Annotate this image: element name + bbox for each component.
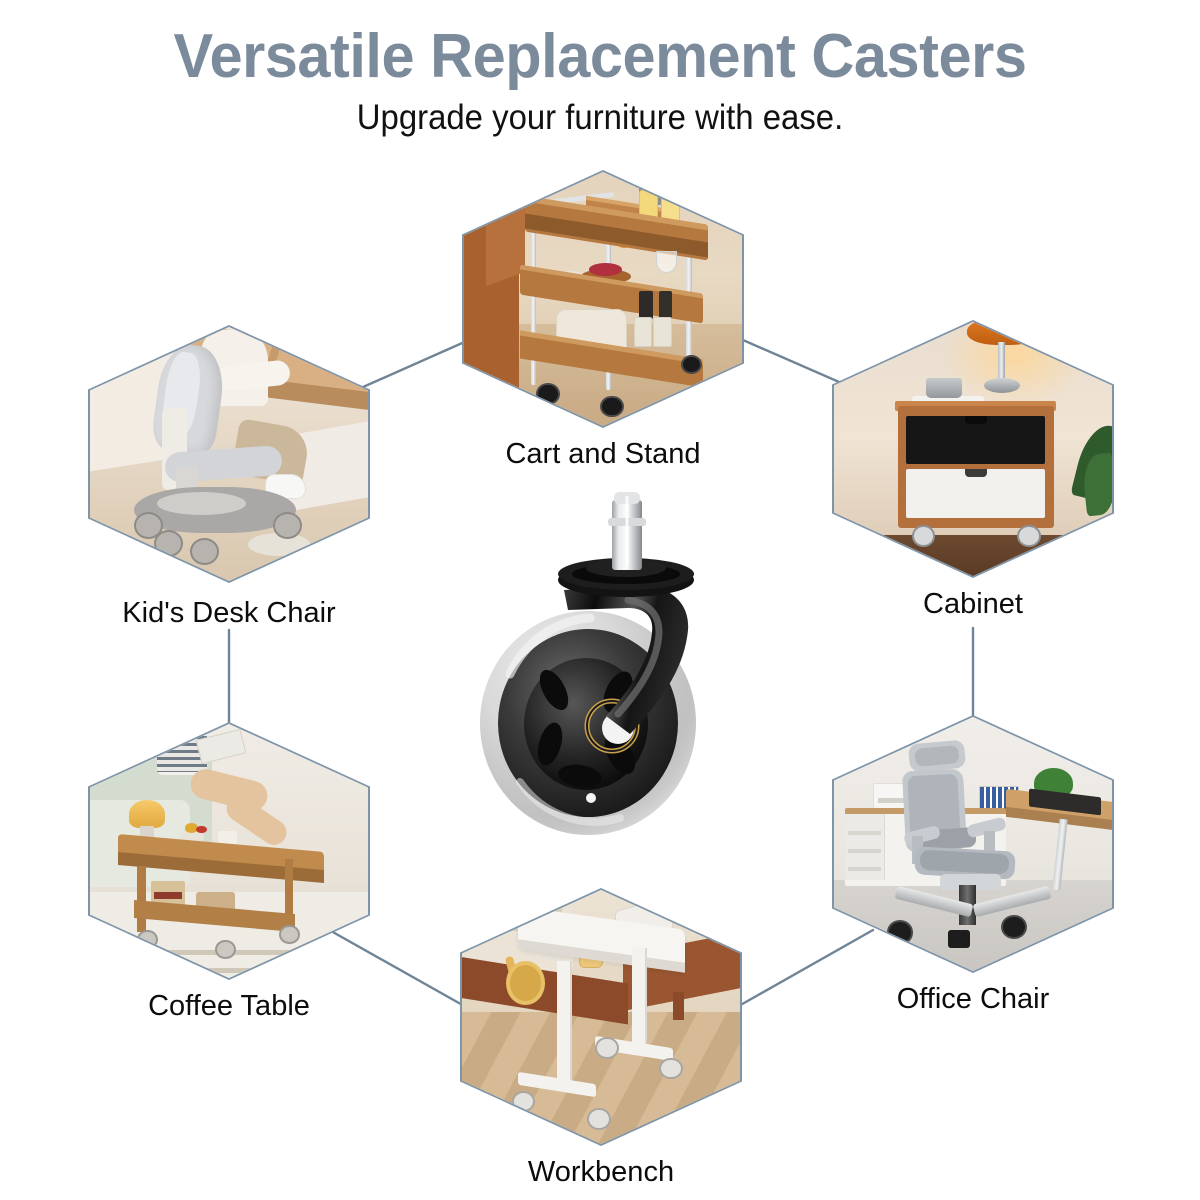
hexagon-frame-cart-and-stand — [462, 170, 744, 428]
node-office-chair[interactable]: Office Chair — [832, 715, 1114, 973]
scene-coffee-table — [90, 724, 368, 978]
node-workbench[interactable]: Workbench — [460, 888, 742, 1146]
node-label-office-chair: Office Chair — [897, 983, 1050, 1016]
hexagon-frame-workbench — [460, 888, 742, 1146]
header: Versatile Replacement Casters Upgrade yo… — [0, 0, 1200, 138]
hexagon-frame-kids-desk-chair — [88, 325, 370, 583]
scene-cart-and-stand — [464, 172, 742, 426]
caster-dot — [586, 793, 596, 803]
hexagon-photo-coffee-table — [90, 724, 368, 978]
scene-kids-desk-chair — [90, 327, 368, 581]
scene-office-chair — [834, 717, 1112, 971]
hexagon-frame-cabinet — [832, 320, 1114, 578]
node-cart-and-stand[interactable]: Cart and Stand — [462, 170, 744, 428]
node-cabinet[interactable]: Cabinet — [832, 320, 1114, 578]
caster-wheel-product-image — [468, 478, 736, 856]
node-kids-desk-chair[interactable]: Kid's Desk Chair — [88, 325, 370, 583]
hexagon-photo-cart-and-stand — [464, 172, 742, 426]
infographic-page: Versatile Replacement Casters Upgrade yo… — [0, 0, 1200, 1200]
scene-workbench — [462, 890, 740, 1144]
node-label-workbench: Workbench — [528, 1156, 674, 1189]
scene-cabinet — [834, 322, 1112, 576]
node-coffee-table[interactable]: Coffee Table — [88, 722, 370, 980]
page-title: Versatile Replacement Casters — [24, 0, 1176, 89]
hexagon-photo-office-chair — [834, 717, 1112, 971]
hexagon-photo-workbench — [462, 890, 740, 1144]
node-label-kids-desk-chair: Kid's Desk Chair — [122, 597, 335, 630]
hexagon-frame-coffee-table — [88, 722, 370, 980]
node-label-cabinet: Cabinet — [923, 588, 1023, 621]
hexagon-frame-office-chair — [832, 715, 1114, 973]
node-label-coffee-table: Coffee Table — [148, 990, 310, 1023]
page-subtitle: Upgrade your furniture with ease. — [36, 89, 1164, 138]
hexagon-photo-kids-desk-chair — [90, 327, 368, 581]
node-label-cart-and-stand: Cart and Stand — [505, 438, 700, 471]
hexagon-photo-cabinet — [834, 322, 1112, 576]
